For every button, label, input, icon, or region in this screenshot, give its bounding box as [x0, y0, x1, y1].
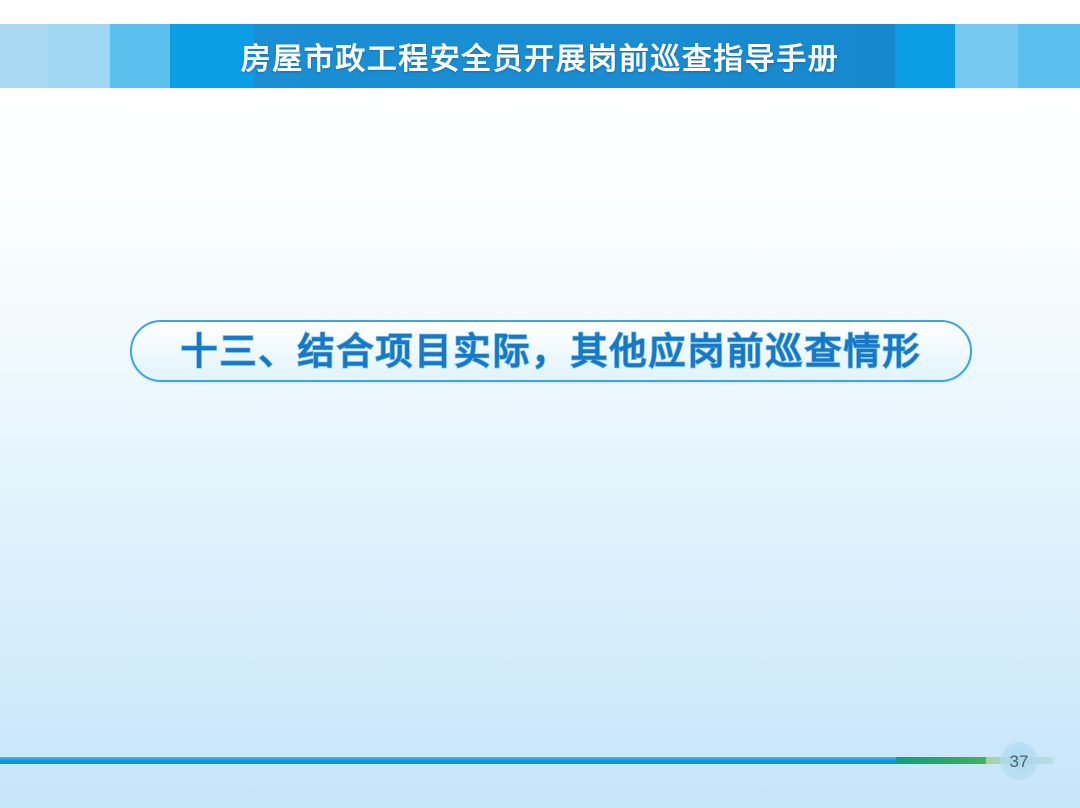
footer-rule-blue: [0, 757, 896, 764]
header-title: 房屋市政工程安全员开展岗前巡查指导手册: [0, 24, 1080, 88]
top-white-strip: [0, 0, 1080, 24]
footer-rule: [0, 757, 1080, 764]
page-number-label: 37: [1010, 753, 1029, 770]
page-number-badge: 37: [1000, 742, 1038, 780]
section-title-text: 十三、结合项目实际，其他应岗前巡查情形: [181, 333, 922, 370]
section-title-box: 十三、结合项目实际，其他应岗前巡查情形: [130, 320, 972, 382]
slide-canvas: 房屋市政工程安全员开展岗前巡查指导手册 十三、结合项目实际，其他应岗前巡查情形 …: [0, 0, 1080, 808]
footer-rule-green: [896, 757, 986, 764]
